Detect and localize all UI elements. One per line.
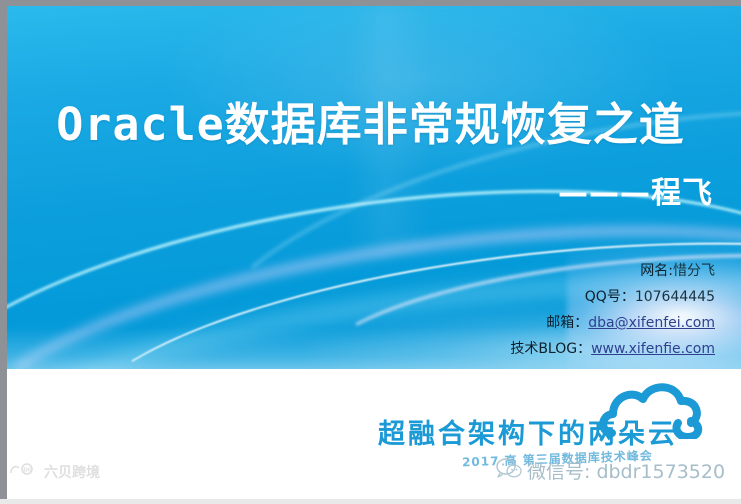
contact-label-blog: 技术BLOG： xyxy=(510,341,591,357)
wechat-watermark-text: 微信号: dbdr1573520 xyxy=(527,457,725,484)
contact-row-email: 邮箱：dba@xifenfei.com xyxy=(510,310,715,336)
slide-frame-bottom xyxy=(0,499,741,504)
contact-label-qq: QQ号： xyxy=(585,289,635,305)
contact-email-link[interactable]: dba@xifenfei.com xyxy=(588,315,715,331)
contact-row-qq: QQ号：107644445 xyxy=(510,284,715,310)
svg-text:DG: DG xyxy=(23,468,33,474)
wechat-watermark: 微信号: dbdr1573520 xyxy=(496,457,725,484)
contact-blog-link[interactable]: www.xifenfie.com xyxy=(591,341,715,357)
brand-logo-icon: DG xyxy=(10,463,40,481)
event-logo-block: 超融合架构下的两朵云 2017 高 第三届数据库技术峰会 xyxy=(0,372,741,504)
slide-author-byline: ———程飞 xyxy=(558,168,713,212)
slide-title: Oracle数据库非常规恢复之道 xyxy=(0,88,741,153)
slide-frame-top xyxy=(0,0,741,6)
wechat-icon xyxy=(496,457,522,484)
brand-watermark: DG 六贝跨境 xyxy=(10,462,100,482)
cloud-icon xyxy=(598,377,706,439)
contact-label-nickname: 网名: xyxy=(640,263,673,279)
contact-value-qq: 107644445 xyxy=(635,289,715,305)
contact-value-nickname: 惜分飞 xyxy=(673,263,715,279)
slide-frame-left xyxy=(0,0,7,504)
presentation-slide: Oracle数据库非常规恢复之道 ———程飞 网名:惜分飞 QQ号：107644… xyxy=(0,0,741,504)
brand-watermark-text: 六贝跨境 xyxy=(44,462,100,482)
contact-row-nickname: 网名:惜分飞 xyxy=(510,258,715,284)
contact-label-email: 邮箱： xyxy=(546,315,588,331)
contact-info-block: 网名:惜分飞 QQ号：107644445 邮箱：dba@xifenfei.com… xyxy=(510,258,715,362)
contact-row-blog: 技术BLOG：www.xifenfie.com xyxy=(510,336,715,362)
